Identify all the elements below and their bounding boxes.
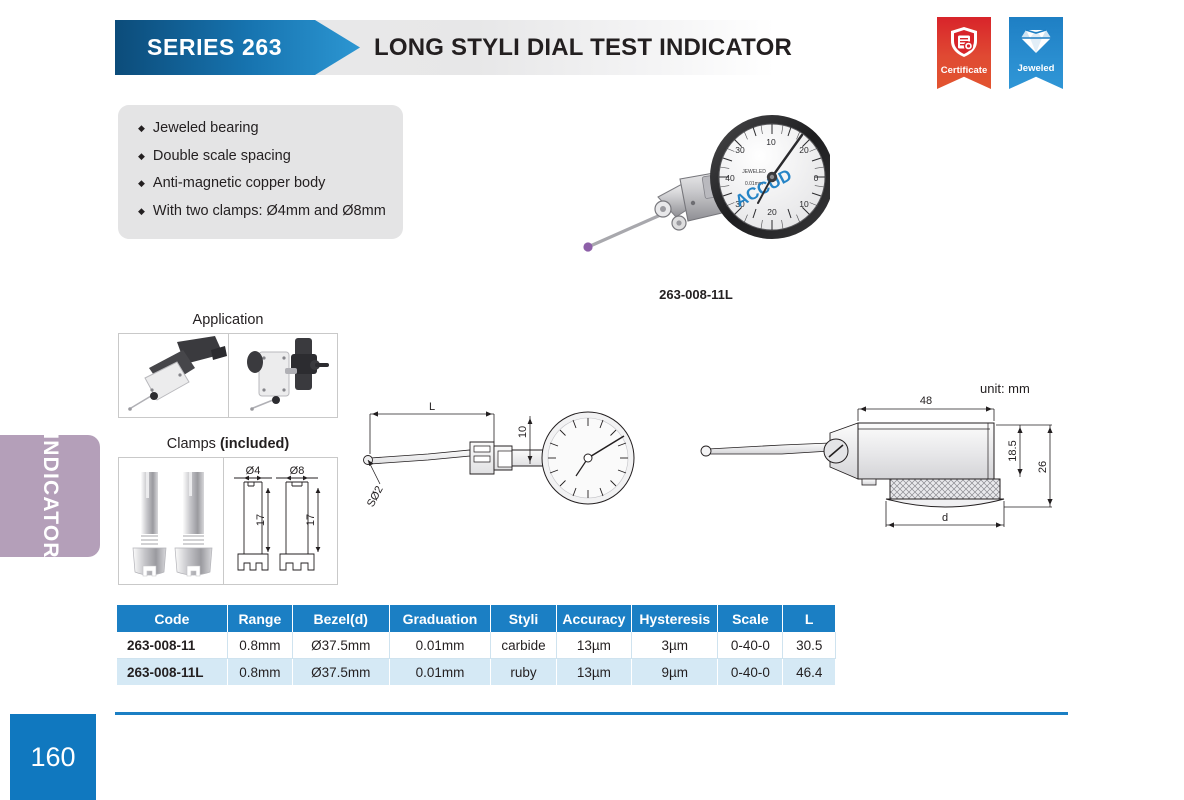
cell-styli: carbide bbox=[491, 632, 556, 659]
category-side-tab: INDICATOR bbox=[0, 435, 100, 557]
badge-certificate: Certificate bbox=[937, 17, 991, 89]
table-row: 263-008-11L 0.8mm Ø37.5mm 0.01mm ruby 13… bbox=[117, 659, 836, 686]
cell-hysteresis: 3µm bbox=[632, 632, 718, 659]
feature-item: ◆ Anti-magnetic copper body bbox=[118, 174, 403, 193]
clamps-panels: Ø4 Ø8 17 17 bbox=[118, 457, 338, 585]
cell-l: 46.4 bbox=[783, 659, 836, 686]
column-header-l: L bbox=[783, 605, 836, 632]
bullet-icon: ◆ bbox=[138, 147, 145, 166]
table-row: 263-008-11 0.8mm Ø37.5mm 0.01mm carbide … bbox=[117, 632, 836, 659]
specifications-table: Code Range Bezel(d) Graduation Styli Acc… bbox=[117, 605, 836, 686]
column-header-graduation: Graduation bbox=[389, 605, 491, 632]
series-label: SERIES 263 bbox=[115, 34, 282, 61]
clamp-dim-height-2: 17 bbox=[305, 514, 317, 526]
badge-certificate-label: Certificate bbox=[941, 65, 987, 76]
clamp-dim-d4: Ø4 bbox=[246, 465, 261, 477]
feature-item: ◆ With two clamps: Ø4mm and Ø8mm bbox=[118, 202, 403, 221]
dim-L: L bbox=[429, 401, 435, 413]
clamp-dim-d8: Ø8 bbox=[290, 465, 305, 477]
svg-text:JEWELED: JEWELED bbox=[742, 169, 766, 175]
svg-text:40: 40 bbox=[725, 173, 735, 183]
cell-accuracy: 13µm bbox=[556, 659, 632, 686]
certificate-shield-icon bbox=[949, 26, 979, 63]
cell-code: 263-008-11 bbox=[117, 632, 227, 659]
bullet-icon: ◆ bbox=[138, 119, 145, 138]
cell-scale: 0-40-0 bbox=[718, 632, 783, 659]
bullet-icon: ◆ bbox=[138, 174, 145, 193]
footer-rule bbox=[115, 712, 1068, 715]
feature-label: Double scale spacing bbox=[153, 147, 291, 166]
technical-drawing-side-view: L SØ2 10 bbox=[358, 398, 638, 528]
cell-range: 0.8mm bbox=[227, 632, 292, 659]
cell-l: 30.5 bbox=[783, 632, 836, 659]
clamps-title-plain: Clamps bbox=[167, 436, 220, 452]
application-photo-panels bbox=[118, 333, 338, 418]
feature-label: With two clamps: Ø4mm and Ø8mm bbox=[153, 202, 386, 221]
svg-text:0: 0 bbox=[814, 173, 819, 183]
column-header-scale: Scale bbox=[718, 605, 783, 632]
dim-48: 48 bbox=[920, 395, 932, 407]
cell-scale: 0-40-0 bbox=[718, 659, 783, 686]
feature-item: ◆ Double scale spacing bbox=[118, 147, 403, 166]
cell-hysteresis: 9µm bbox=[632, 659, 718, 686]
cell-styli: ruby bbox=[491, 659, 556, 686]
page-title: LONG STYLI DIAL TEST INDICATOR bbox=[374, 20, 792, 75]
svg-text:30: 30 bbox=[735, 145, 745, 155]
clamp-dim-height-1: 17 bbox=[255, 514, 267, 526]
dim-d: d bbox=[942, 512, 948, 524]
clamps-dimension-drawing: Ø4 Ø8 17 17 bbox=[224, 457, 338, 585]
cell-graduation: 0.01mm bbox=[389, 659, 491, 686]
feature-label: Jeweled bearing bbox=[153, 119, 259, 138]
dim-stylus-ball: SØ2 bbox=[365, 484, 386, 509]
svg-text:20: 20 bbox=[799, 145, 809, 155]
page-number-badge: 160 bbox=[10, 714, 96, 800]
series-chevron-badge: SERIES 263 bbox=[115, 20, 360, 75]
column-header-code: Code bbox=[117, 605, 227, 632]
cell-bezel: Ø37.5mm bbox=[292, 659, 389, 686]
dim-10: 10 bbox=[517, 426, 529, 438]
svg-text:10: 10 bbox=[766, 137, 776, 147]
svg-text:20: 20 bbox=[767, 207, 777, 217]
cell-graduation: 0.01mm bbox=[389, 632, 491, 659]
cell-range: 0.8mm bbox=[227, 659, 292, 686]
dim-18-5: 18.5 bbox=[1007, 440, 1019, 461]
table-header-row: Code Range Bezel(d) Graduation Styli Acc… bbox=[117, 605, 836, 632]
column-header-accuracy: Accuracy bbox=[556, 605, 632, 632]
application-photo-2 bbox=[229, 333, 339, 418]
column-header-bezel: Bezel(d) bbox=[292, 605, 389, 632]
column-header-range: Range bbox=[227, 605, 292, 632]
column-header-hysteresis: Hysteresis bbox=[632, 605, 718, 632]
application-title: Application bbox=[118, 312, 338, 328]
product-caption: 263-008-11L bbox=[616, 287, 776, 302]
cell-code: 263-008-11L bbox=[117, 659, 227, 686]
product-photo: 10 20 0 10 20 30 40 30 JEWELED 0.01mm AC… bbox=[580, 105, 830, 280]
cell-bezel: Ø37.5mm bbox=[292, 632, 389, 659]
page-number-label: 160 bbox=[30, 742, 75, 773]
cell-accuracy: 13µm bbox=[556, 632, 632, 659]
clamps-title: Clamps (included) bbox=[118, 436, 338, 452]
svg-text:10: 10 bbox=[799, 199, 809, 209]
clamps-title-bold: (included) bbox=[220, 436, 289, 452]
diamond-icon bbox=[1020, 26, 1052, 61]
dim-26: 26 bbox=[1037, 461, 1049, 473]
badge-jeweled: Jeweled bbox=[1009, 17, 1063, 89]
technical-drawing-top-view: 48 18.5 26 d bbox=[690, 375, 1070, 535]
category-side-tab-label: INDICATOR bbox=[38, 433, 62, 559]
badge-jeweled-label: Jeweled bbox=[1018, 63, 1055, 74]
feature-label: Anti-magnetic copper body bbox=[153, 174, 326, 193]
feature-item: ◆ Jeweled bearing bbox=[118, 119, 403, 138]
bullet-icon: ◆ bbox=[138, 202, 145, 221]
clamps-photo bbox=[118, 457, 224, 585]
column-header-styli: Styli bbox=[491, 605, 556, 632]
features-panel: ◆ Jeweled bearing ◆ Double scale spacing… bbox=[118, 105, 403, 239]
application-photo-1 bbox=[118, 333, 229, 418]
